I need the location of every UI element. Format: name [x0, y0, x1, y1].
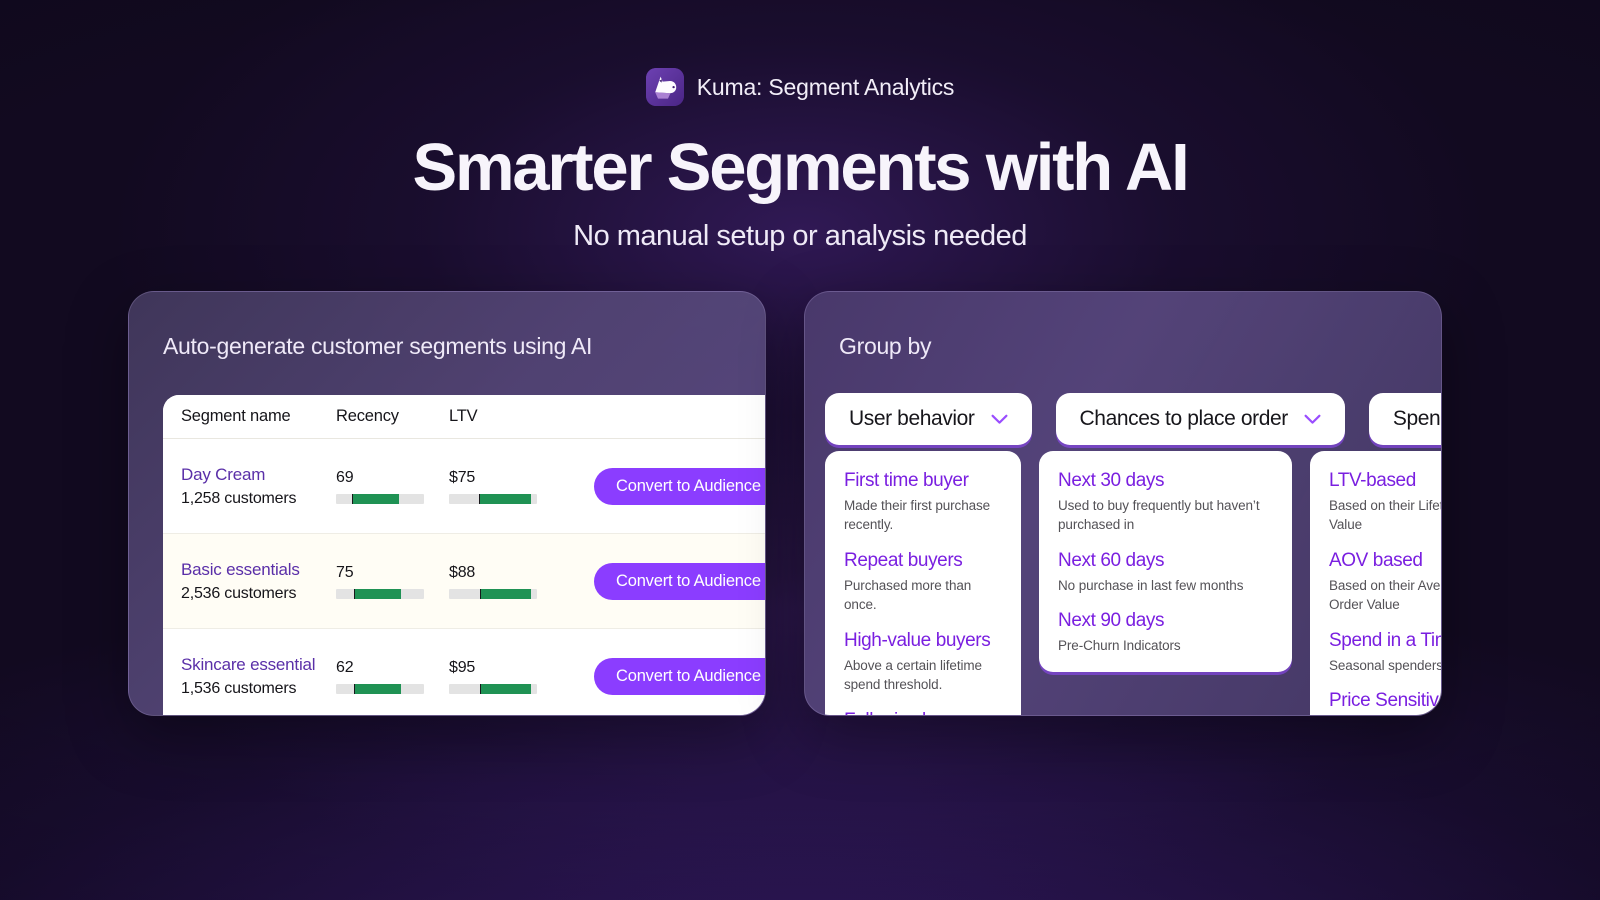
option-item[interactable]: Next 90 days Pre-Churn Indicators	[1058, 609, 1273, 655]
cell-ltv: $75	[449, 469, 594, 504]
option-description: No purchase in last few months	[1058, 576, 1273, 596]
group-by-dropdown-label: Spending	[1393, 407, 1442, 431]
option-item[interactable]: Next 60 days No purchase in last few mon…	[1058, 549, 1273, 595]
group-by-dropdown-label: Chances to place order	[1080, 407, 1288, 431]
option-title: Next 90 days	[1058, 609, 1273, 633]
option-title: Repeat buyers	[844, 549, 1002, 573]
metric-bar-marker	[354, 589, 356, 599]
option-item[interactable]: Full price buyers Mostly buy during sale…	[844, 709, 1002, 716]
table-header-row: Segment name Recency LTV	[163, 395, 766, 439]
group-by-dropdown-3[interactable]: Spending	[1369, 393, 1442, 445]
group-by-options-row: First time buyer Made their first purcha…	[825, 451, 1442, 716]
cell-recency: 69	[336, 469, 449, 504]
convert-to-audience-button[interactable]: Convert to Audience	[594, 658, 766, 695]
option-description: Based on their Lifetime Value	[1329, 496, 1442, 535]
metric-bar-marker	[480, 589, 482, 599]
metric-bar	[336, 684, 424, 694]
brand-name: Kuma: Segment Analytics	[697, 74, 954, 101]
column-header-segment-name: Segment name	[163, 407, 336, 426]
option-item[interactable]: LTV-based Based on their Lifetime Value	[1329, 469, 1442, 535]
recency-value: 69	[336, 469, 449, 487]
cell-action: Convert to Audience	[594, 468, 766, 505]
column-header-recency: Recency	[336, 407, 449, 426]
cell-segment-name: Skincare essential 1,536 customers	[163, 654, 336, 698]
brand-header: Kuma: Segment Analytics	[0, 68, 1600, 106]
bear-head-icon	[646, 68, 684, 106]
metric-bar	[449, 684, 537, 694]
group-by-options-panel-1: First time buyer Made their first purcha…	[825, 451, 1021, 716]
segments-card-title: Auto-generate customer segments using AI	[163, 333, 592, 360]
option-title: Full price buyers	[844, 709, 1002, 716]
segment-customer-count: 1,536 customers	[181, 680, 336, 698]
column-header-ltv: LTV	[449, 407, 594, 426]
group-by-dropdown-row: User behaviorChances to place orderSpend…	[825, 393, 1442, 445]
table-row: Basic essentials 2,536 customers 75 $88 …	[163, 534, 766, 629]
cell-ltv: $95	[449, 659, 594, 694]
metric-bar	[336, 589, 424, 599]
metric-bar	[449, 589, 537, 599]
segment-customer-count: 2,536 customers	[181, 585, 336, 603]
group-by-dropdown-2[interactable]: Chances to place order	[1056, 393, 1345, 445]
option-title: LTV-based	[1329, 469, 1442, 493]
option-item[interactable]: First time buyer Made their first purcha…	[844, 469, 1002, 535]
cell-action: Convert to Audience	[594, 658, 766, 695]
chevron-down-icon	[1304, 414, 1321, 425]
convert-to-audience-button[interactable]: Convert to Audience	[594, 563, 766, 600]
metric-bar	[449, 494, 537, 504]
hero-section: Smarter Segments with AI No manual setup…	[0, 132, 1600, 253]
convert-to-audience-button[interactable]: Convert to Audience	[594, 468, 766, 505]
option-item[interactable]: High-value buyers Above a certain lifeti…	[844, 629, 1002, 695]
option-title: Spend in a Timeframe	[1329, 629, 1442, 653]
option-item[interactable]: Spend in a Timeframe Seasonal spenders	[1329, 629, 1442, 675]
cell-action: Convert to Audience	[594, 563, 766, 600]
ltv-value: $95	[449, 659, 594, 677]
metric-bar-fill	[480, 589, 531, 599]
group-by-card-title: Group by	[839, 333, 931, 360]
cell-ltv: $88	[449, 564, 594, 599]
option-title: AOV based	[1329, 549, 1442, 573]
recency-value: 75	[336, 564, 449, 582]
page-root: Kuma: Segment Analytics Smarter Segments…	[0, 0, 1600, 900]
page-title: Smarter Segments with AI	[0, 132, 1600, 204]
segments-table: Segment name Recency LTV Day Cream 1,258…	[163, 395, 766, 716]
chevron-down-icon	[991, 414, 1008, 425]
page-subtitle: No manual setup or analysis needed	[0, 220, 1600, 253]
option-description: Pre-Churn Indicators	[1058, 636, 1273, 656]
segment-customer-count: 1,258 customers	[181, 490, 336, 508]
option-item[interactable]: Next 30 days Used to buy frequently but …	[1058, 469, 1273, 535]
group-by-card: Group by User behaviorChances to place o…	[804, 291, 1442, 716]
cell-recency: 62	[336, 659, 449, 694]
option-title: Next 30 days	[1058, 469, 1273, 493]
recency-value: 62	[336, 659, 449, 677]
segment-name: Skincare essential	[181, 654, 336, 677]
option-title: First time buyer	[844, 469, 1002, 493]
ltv-value: $88	[449, 564, 594, 582]
option-description: Based on their Average Order Value	[1329, 576, 1442, 615]
metric-bar	[336, 494, 424, 504]
metric-bar-fill	[354, 684, 402, 694]
option-item[interactable]: Repeat buyers Purchased more than once.	[844, 549, 1002, 615]
option-description: Used to buy frequently but haven’t purch…	[1058, 496, 1273, 535]
cell-recency: 75	[336, 564, 449, 599]
segments-card: Auto-generate customer segments using AI…	[128, 291, 766, 716]
group-by-dropdown-label: User behavior	[849, 407, 975, 431]
metric-bar-fill	[479, 494, 531, 504]
metric-bar-fill	[352, 494, 400, 504]
segment-name: Basic essentials	[181, 559, 336, 582]
option-description: Above a certain lifetime spend threshold…	[844, 656, 1002, 695]
option-title: Next 60 days	[1058, 549, 1273, 573]
option-description: Made their first purchase recently.	[844, 496, 1002, 535]
segment-name: Day Cream	[181, 464, 336, 487]
group-by-dropdown-1[interactable]: User behavior	[825, 393, 1032, 445]
option-item[interactable]: AOV based Based on their Average Order V…	[1329, 549, 1442, 615]
metric-bar-marker	[352, 494, 354, 504]
metric-bar-fill	[480, 684, 531, 694]
metric-bar-marker	[354, 684, 356, 694]
table-body: Day Cream 1,258 customers 69 $75 Convert…	[163, 439, 766, 716]
option-item[interactable]: Price Sensitive Buyers who purchase on d…	[1329, 689, 1442, 716]
table-row: Day Cream 1,258 customers 69 $75 Convert…	[163, 439, 766, 534]
option-description: Purchased more than once.	[844, 576, 1002, 615]
table-row: Skincare essential 1,536 customers 62 $9…	[163, 629, 766, 716]
ltv-value: $75	[449, 469, 594, 487]
metric-bar-fill	[354, 589, 402, 599]
group-by-options-panel-3: LTV-based Based on their Lifetime Value …	[1310, 451, 1442, 716]
cell-segment-name: Day Cream 1,258 customers	[163, 464, 336, 508]
group-by-options-panel-2: Next 30 days Used to buy frequently but …	[1039, 451, 1292, 672]
metric-bar-marker	[479, 494, 481, 504]
cell-segment-name: Basic essentials 2,536 customers	[163, 559, 336, 603]
option-title: High-value buyers	[844, 629, 1002, 653]
option-description: Seasonal spenders	[1329, 656, 1442, 676]
option-title: Price Sensitive	[1329, 689, 1442, 713]
metric-bar-marker	[480, 684, 482, 694]
